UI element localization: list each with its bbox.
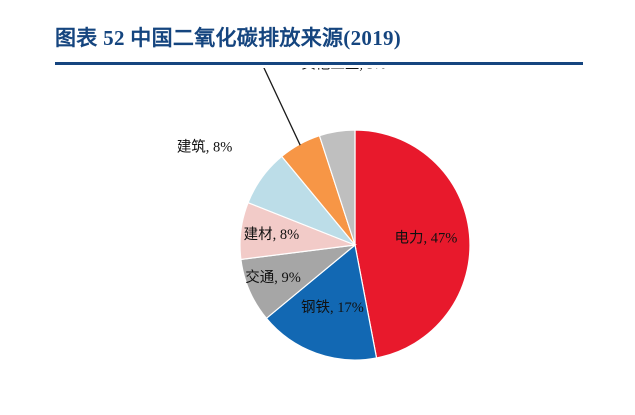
pie-chart-svg: 电力, 47%钢铁, 17%交通, 9%建材, 8%建筑, 8%化工, 6%其他… [0, 68, 635, 415]
figure-root: 图表 52 中国二氧化碳排放来源(2019) 电力, 47%钢铁, 17%交通,… [0, 0, 635, 415]
pie-leader-line-group [239, 68, 300, 145]
pie-label-电力: 电力, 47% [395, 229, 458, 246]
pie-label-交通: 交通, 9% [245, 268, 301, 286]
pie-leader-line-化工 [239, 68, 300, 145]
pie-label-建筑: 建筑, 8% [177, 139, 233, 156]
pie-label-其他工业: 其他工业, 5% [301, 68, 386, 72]
pie-label-建材: 建材, 8% [244, 226, 300, 243]
title-divider [55, 62, 583, 65]
pie-chart-area: 电力, 47%钢铁, 17%交通, 9%建材, 8%建筑, 8%化工, 6%其他… [0, 68, 635, 415]
pie-label-钢铁: 钢铁, 17% [301, 299, 364, 316]
page-title: 图表 52 中国二氧化碳排放来源(2019) [55, 24, 401, 52]
